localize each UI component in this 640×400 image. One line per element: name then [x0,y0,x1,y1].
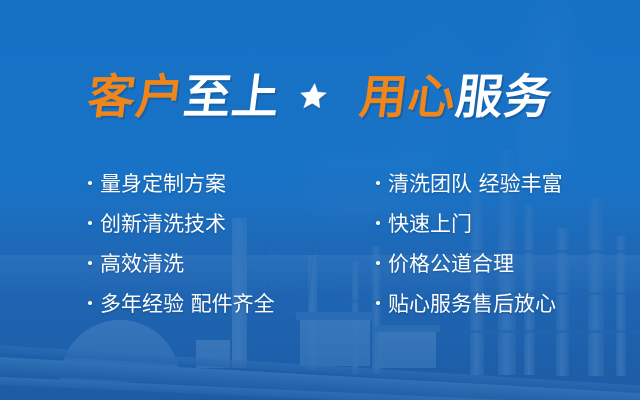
dot-icon [88,301,92,305]
list-item: 高效清洗 [88,243,275,283]
dot-icon [376,261,380,265]
dot-icon [88,221,92,225]
list-item-label: 多年经验 配件齐全 [100,288,275,318]
dot-icon [376,301,380,305]
headline-segment-2-white: 服务 [453,70,556,125]
list-item-label: 高效清洗 [100,248,184,278]
headline-segment-1-white: 至上 [181,70,284,125]
banner-content: 客户至上 用心服务 量身定制方案 创新清洗技术 高效清洗 [0,0,640,400]
dot-icon [88,261,92,265]
list-item-label: 快速上门 [388,208,472,238]
dot-icon [376,181,380,185]
list-item-label: 价格公道合理 [388,248,514,278]
list-item: 创新清洗技术 [88,203,275,243]
list-item: 清洗团队 经验丰富 [376,163,563,203]
list-item: 多年经验 配件齐全 [88,283,275,323]
list-item: 价格公道合理 [376,243,563,283]
star-icon [296,81,330,111]
headline-segment-1-orange: 客户 [85,70,188,125]
feature-list-right: 清洗团队 经验丰富 快速上门 价格公道合理 贴心服务售后放心 [376,163,563,323]
list-item-label: 创新清洗技术 [100,208,226,238]
headline: 客户至上 用心服务 [0,74,640,121]
list-item-label: 贴心服务售后放心 [388,288,556,318]
list-item-label: 量身定制方案 [100,168,226,198]
list-item: 量身定制方案 [88,163,275,203]
feature-lists: 量身定制方案 创新清洗技术 高效清洗 多年经验 配件齐全 [0,163,640,333]
list-item: 快速上门 [376,203,563,243]
feature-list-left: 量身定制方案 创新清洗技术 高效清洗 多年经验 配件齐全 [88,163,275,323]
dot-icon [376,221,380,225]
list-item-label: 清洗团队 经验丰富 [388,168,563,198]
dot-icon [88,181,92,185]
list-item: 贴心服务售后放心 [376,283,563,323]
promo-banner: 客户至上 用心服务 量身定制方案 创新清洗技术 高效清洗 [0,0,640,400]
headline-segment-2-orange: 用心 [357,70,460,125]
